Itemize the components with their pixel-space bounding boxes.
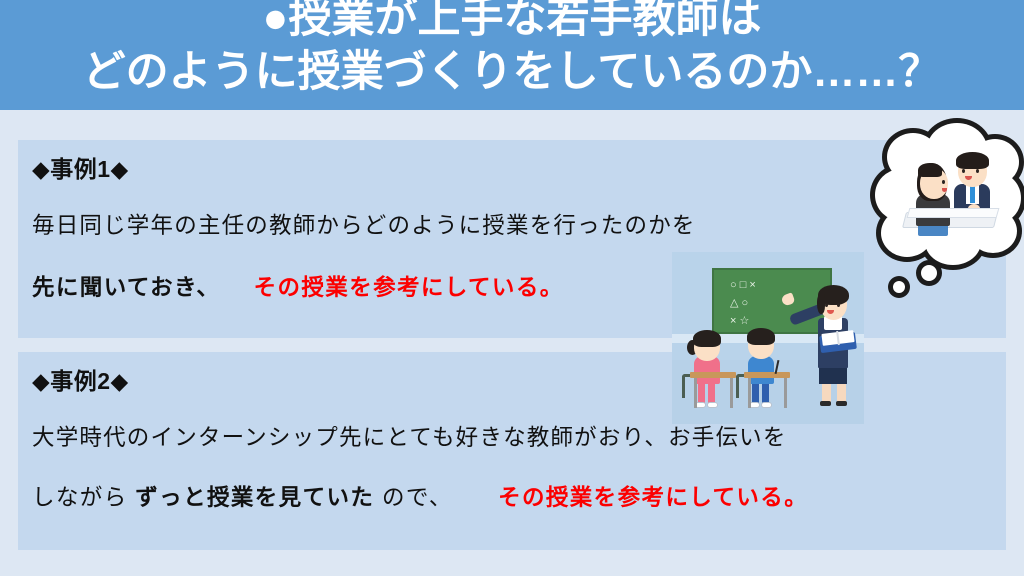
student-2-shoe-right [761, 402, 772, 408]
case-1-line2-red-text: その授業を参考にしている。 [254, 275, 564, 300]
case-1-line1-text: 毎日同じ学年の主任の教師からどのように授業を行ったのかを [32, 213, 696, 238]
teacher-shoe-left [820, 401, 831, 406]
case-2-body-line-2: しながら ずっと授業を見ていた ので、 その授業を参考にしている。 [32, 480, 808, 512]
thought-bubble-illustration [866, 118, 1024, 308]
man-necktie [970, 186, 975, 203]
case-1-label: ◆事例1◆ [32, 150, 129, 184]
teacher-shoe-right [836, 401, 847, 406]
bubble-inner-scene [898, 150, 1004, 248]
header-title-line-2: どのように授業づくりをしているのか……？ [0, 44, 1024, 100]
blackboard-icon: ○ □ × △ ○ × ☆ [712, 268, 832, 334]
man-hair [956, 152, 989, 169]
desk-leg [784, 378, 787, 408]
teacher-hair-side [817, 294, 825, 314]
man-eye-right [976, 169, 979, 173]
slide-header-banner: ●授業が上手な若手教師は どのように授業づくりをしているのか……？ [0, 0, 1024, 110]
woman-hair-front [918, 163, 942, 177]
case-2-body-line-1: 大学時代のインターンシップ先にとても好きな教師がおり、お手伝いを [32, 420, 787, 452]
case-2-line2-normal-1: しながら [32, 485, 128, 510]
blackboard-marks-row-3: × ☆ [730, 316, 749, 327]
desk-leg [694, 378, 697, 408]
woman-eye [942, 180, 945, 184]
case-1-body-line-2: 先に聞いておき、 その授業を参考にしている。 [32, 270, 564, 302]
case-2-line2-bold-text: ずっと授業を見ていた [135, 485, 374, 510]
teacher-eye-left [825, 303, 828, 307]
classroom-illustration: ○ □ × △ ○ × ☆ [672, 252, 864, 424]
student-1-shoe-right [707, 402, 718, 408]
student-1-hair [693, 330, 721, 347]
slide-canvas: ●授業が上手な若手教師は どのように授業づくりをしているのか……？ ◆事例1◆ … [0, 0, 1024, 576]
header-title-line-1: ●授業が上手な若手教師は [0, 0, 1024, 44]
blackboard-marks-row-2: △ ○ [730, 298, 748, 309]
blackboard-marks-row-1: ○ □ × [730, 280, 756, 291]
case-2-line2-normal-2: ので、 [382, 485, 453, 510]
bubble-tail-small-fill [893, 281, 905, 293]
man-eye-left [962, 169, 965, 173]
bubble-tail-large-fill [921, 265, 937, 281]
desk-leg [730, 378, 733, 408]
meeting-table-surface [907, 208, 1000, 218]
case-2-label: ◆事例2◆ [32, 362, 129, 396]
case-2-line2-red-text: その授業を参考にしている。 [498, 485, 808, 510]
case-2-line1-text: 大学時代のインターンシップ先にとても好きな教師がおり、お手伝いを [32, 425, 787, 450]
case-1-body-line-1: 毎日同じ学年の主任の教師からどのように授業を行ったのかを [32, 208, 696, 240]
teacher-eye-right [837, 303, 840, 307]
student-2-hair [747, 328, 775, 345]
desk-leg [748, 378, 751, 408]
case-1-line2-bold-text: 先に聞いておき、 [32, 275, 220, 300]
student-2-body [748, 356, 774, 384]
